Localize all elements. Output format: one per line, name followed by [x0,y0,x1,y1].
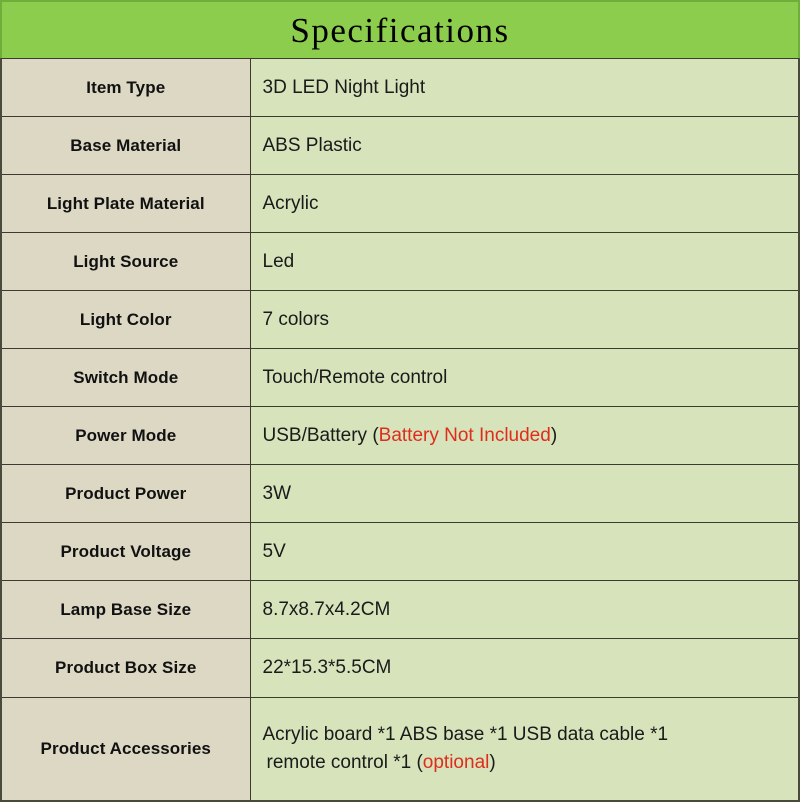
spec-value-switch-mode: Touch/Remote control [250,349,799,407]
spec-value-item-type: 3D LED Night Light [250,59,799,117]
spec-label-product-box-size: Product Box Size [1,639,250,697]
table-row: Light Color 7 colors [1,291,799,349]
spec-label-switch-mode: Switch Mode [1,349,250,407]
spec-label-power-mode: Power Mode [1,407,250,465]
accessories-line-2: remote control *1 (optional) [263,749,789,777]
table-row: Lamp Base Size 8.7x8.7x4.2CM [1,581,799,639]
table-row: Product Power 3W [1,465,799,523]
spec-value-power-mode: USB/Battery (Battery Not Included) [250,407,799,465]
table-row: Switch Mode Touch/Remote control [1,349,799,407]
table-row: Power Mode USB/Battery (Battery Not Incl… [1,407,799,465]
specifications-table: Item Type 3D LED Night Light Base Materi… [0,58,800,802]
table-row: Light Source Led [1,233,799,291]
spec-value-base-material: ABS Plastic [250,117,799,175]
table-row: Base Material ABS Plastic [1,117,799,175]
spec-label-base-material: Base Material [1,117,250,175]
specifications-sheet: Specifications Item Type 3D LED Night Li… [0,0,800,802]
spec-value-light-plate-material: Acrylic [250,175,799,233]
power-mode-note: Battery Not Included [379,425,551,446]
power-mode-prefix: USB/Battery ( [263,425,379,446]
accessories-optional-note: optional [423,752,490,773]
spec-value-product-box-size: 22*15.3*5.5CM [250,639,799,697]
spec-value-product-voltage: 5V [250,523,799,581]
spec-label-item-type: Item Type [1,59,250,117]
spec-label-product-voltage: Product Voltage [1,523,250,581]
table-row: Product Accessories Acrylic board *1 ABS… [1,697,799,801]
spec-value-light-source: Led [250,233,799,291]
spec-value-light-color: 7 colors [250,291,799,349]
table-row: Light Plate Material Acrylic [1,175,799,233]
table-row: Item Type 3D LED Night Light [1,59,799,117]
spec-label-product-accessories: Product Accessories [1,697,250,801]
accessories-line-1: Acrylic board *1 ABS base *1 USB data ca… [263,724,669,745]
page-title: Specifications [0,0,800,58]
accessories-line-2-prefix: remote control *1 ( [267,752,423,773]
spec-label-light-source: Light Source [1,233,250,291]
spec-value-lamp-base-size: 8.7x8.7x4.2CM [250,581,799,639]
spec-value-product-accessories: Acrylic board *1 ABS base *1 USB data ca… [250,697,799,801]
spec-label-lamp-base-size: Lamp Base Size [1,581,250,639]
accessories-line-2-suffix: ) [489,752,495,773]
power-mode-suffix: ) [551,425,557,446]
spec-label-light-color: Light Color [1,291,250,349]
spec-value-product-power: 3W [250,465,799,523]
spec-label-product-power: Product Power [1,465,250,523]
spec-label-light-plate-material: Light Plate Material [1,175,250,233]
table-row: Product Box Size 22*15.3*5.5CM [1,639,799,697]
table-row: Product Voltage 5V [1,523,799,581]
